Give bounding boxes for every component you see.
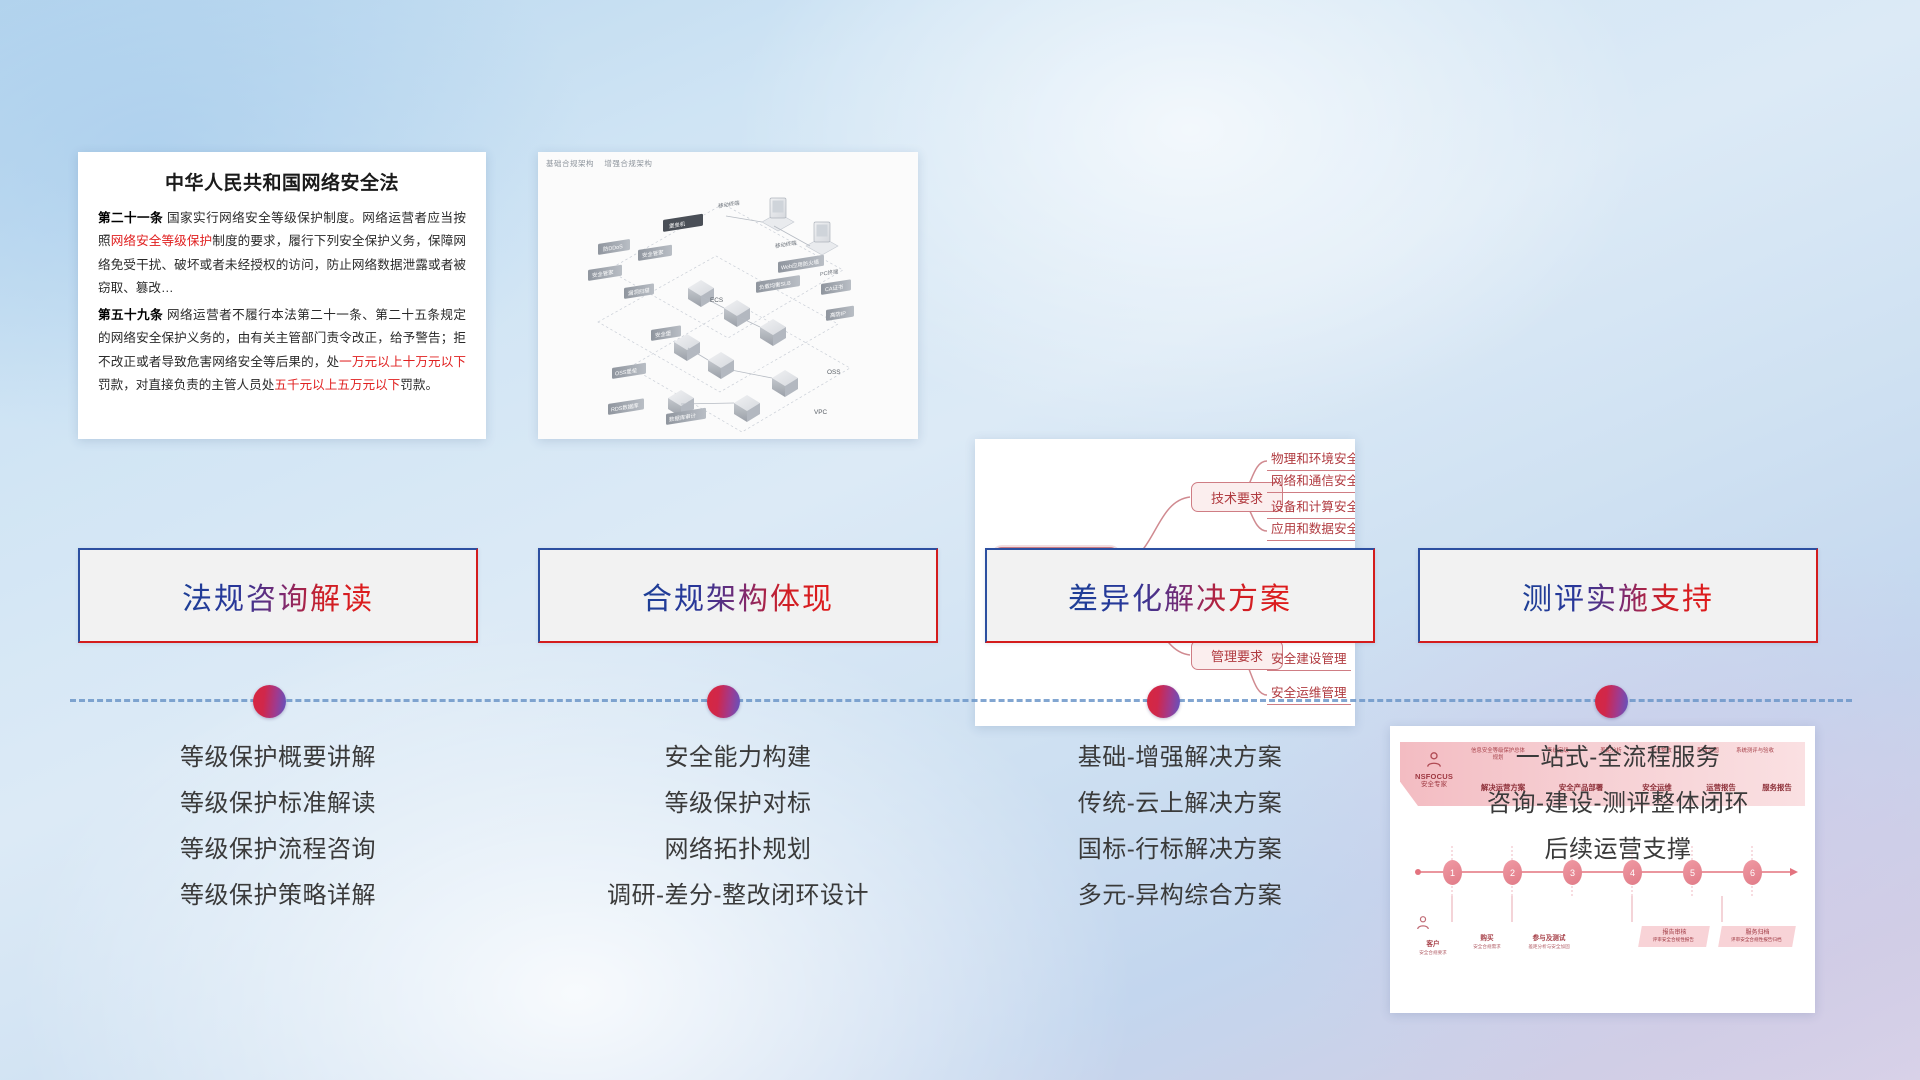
architecture-diagram-svg: 堡垒机 防DDoS 安全管家 安全管家 漏洞扫描 安全堡 OSS堡垒 RDS数据…: [538, 152, 918, 439]
timeline-dot-4[interactable]: [1595, 685, 1628, 718]
article-21-highlight: 网络安全等级保护: [111, 234, 213, 248]
svg-text:移动终端: 移动终端: [775, 239, 797, 250]
list-item[interactable]: 调研-差分-整改闭环设计: [538, 873, 938, 919]
timeline: [0, 665, 1920, 725]
list-item[interactable]: 等级保护概要讲解: [78, 735, 478, 781]
timeline-dot-3[interactable]: [1147, 685, 1180, 718]
card-compliance-architecture[interactable]: 基础合规架构 增强合规架构: [538, 152, 918, 439]
list-item[interactable]: 传统-云上解决方案: [985, 781, 1375, 827]
article-59-label: 第五十九条: [98, 308, 163, 322]
service-column-solutions: 基础-增强解决方案 传统-云上解决方案 国标-行标解决方案 多元-异构综合方案: [985, 735, 1375, 919]
article-21-label: 第二十一条: [98, 211, 163, 225]
list-item[interactable]: 等级保护标准解读: [78, 781, 478, 827]
banner-label-2: 差异化解决方案: [1068, 574, 1292, 618]
service-column-evaluation: 一站式-全流程服务 咨询-建设-测评整体闭环 后续运营支撑: [1418, 735, 1818, 873]
svg-text:OSS: OSS: [827, 369, 841, 376]
card-cybersecurity-law[interactable]: 中华人民共和国网络安全法 第二十一条 国家实行网络安全等级保护制度。网络运营者应…: [78, 152, 486, 439]
svg-text:VPC: VPC: [814, 409, 828, 416]
mindmap-leaf-device-compute[interactable]: 设备和计算安全: [1267, 499, 1355, 519]
banner-regulation-consulting[interactable]: 法规咨询解读: [78, 548, 478, 643]
law-article-59: 第五十九条 网络运营者不履行本法第二十一条、第二十五条规定的网络安全保护义务的，…: [98, 304, 466, 397]
banner-differentiated-solution[interactable]: 差异化解决方案: [985, 548, 1375, 643]
list-item[interactable]: 后续运营支撑: [1418, 827, 1818, 873]
article-59-text-3: 罚款。: [400, 378, 438, 392]
banner-label-3: 测评实施支持: [1522, 574, 1714, 618]
list-item[interactable]: 安全能力构建: [538, 735, 938, 781]
banner-label-0: 法规咨询解读: [182, 574, 374, 618]
article-59-highlight-1: 一万元以上十万元以下: [339, 355, 466, 369]
banner-row: 法规咨询解读 合规架构体现 差异化解决方案 测评实施支持: [0, 548, 1920, 648]
banner-evaluation-support[interactable]: 测评实施支持: [1418, 548, 1818, 643]
list-item[interactable]: 等级保护对标: [538, 781, 938, 827]
timeline-dashed-line: [70, 699, 1852, 702]
timeline-dot-2[interactable]: [707, 685, 740, 718]
image-cards-row: 中华人民共和国网络安全法 第二十一条 国家实行网络安全等级保护制度。网络运营者应…: [0, 152, 1920, 442]
article-59-text-2: 罚款，对直接负责的主管人员处: [98, 378, 274, 392]
article-59-highlight-2: 五千元以上五万元以下: [274, 378, 400, 392]
list-item[interactable]: 多元-异构综合方案: [985, 873, 1375, 919]
mindmap-leaf-app-data[interactable]: 应用和数据安全: [1267, 521, 1355, 541]
service-column-regulation: 等级保护概要讲解 等级保护标准解读 等级保护流程咨询 等级保护策略详解: [78, 735, 478, 919]
svg-text:ECS: ECS: [710, 297, 723, 304]
timeline-dot-1[interactable]: [253, 685, 286, 718]
list-item[interactable]: 咨询-建设-测评整体闭环: [1418, 781, 1818, 827]
svg-text:移动终端: 移动终端: [718, 199, 740, 210]
law-article-21: 第二十一条 国家实行网络安全等级保护制度。网络运营者应当按照网络安全等级保护制度…: [98, 207, 466, 300]
service-lists: 等级保护概要讲解 等级保护标准解读 等级保护流程咨询 等级保护策略详解 安全能力…: [0, 735, 1920, 965]
list-item[interactable]: 国标-行标解决方案: [985, 827, 1375, 873]
law-title: 中华人民共和国网络安全法: [98, 168, 466, 195]
list-item[interactable]: 等级保护策略详解: [78, 873, 478, 919]
mindmap-leaf-physical-env[interactable]: 物理和环境安全: [1267, 451, 1355, 471]
banner-compliance-architecture[interactable]: 合规架构体现: [538, 548, 938, 643]
service-column-architecture: 安全能力构建 等级保护对标 网络拓扑规划 调研-差分-整改闭环设计: [538, 735, 938, 919]
list-item[interactable]: 等级保护流程咨询: [78, 827, 478, 873]
banner-label-1: 合规架构体现: [642, 574, 834, 618]
list-item[interactable]: 网络拓扑规划: [538, 827, 938, 873]
svg-text:PC终端: PC终端: [820, 267, 839, 278]
list-item[interactable]: 基础-增强解决方案: [985, 735, 1375, 781]
mindmap-leaf-network-comm[interactable]: 网络和通信安全: [1267, 473, 1355, 493]
list-item[interactable]: 一站式-全流程服务: [1418, 735, 1818, 781]
